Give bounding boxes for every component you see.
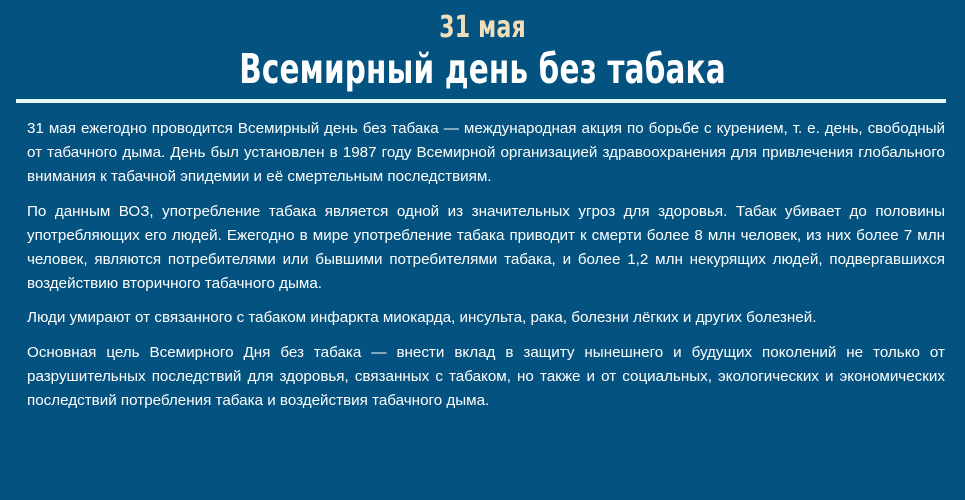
paragraph-3: Люди умирают от связанного с табаком инф…	[27, 306, 945, 330]
poster-header: 31 мая Всемирный день без табака	[0, 0, 965, 92]
divider-rule	[16, 99, 946, 103]
poster-root: 31 мая Всемирный день без табака 31 мая …	[0, 0, 965, 500]
paragraph-2: По данным ВОЗ, употребление табака являе…	[27, 200, 945, 297]
paragraph-1: 31 мая ежегодно проводится Всемирный ден…	[27, 117, 945, 190]
paragraph-4: Основная цель Всемирного Дня без табака …	[27, 341, 945, 414]
header-divider	[16, 99, 946, 103]
body-copy: 31 мая ежегодно проводится Всемирный ден…	[27, 117, 945, 413]
page-title: Всемирный день без табака	[97, 46, 869, 92]
poster-date: 31 мая	[87, 11, 878, 45]
